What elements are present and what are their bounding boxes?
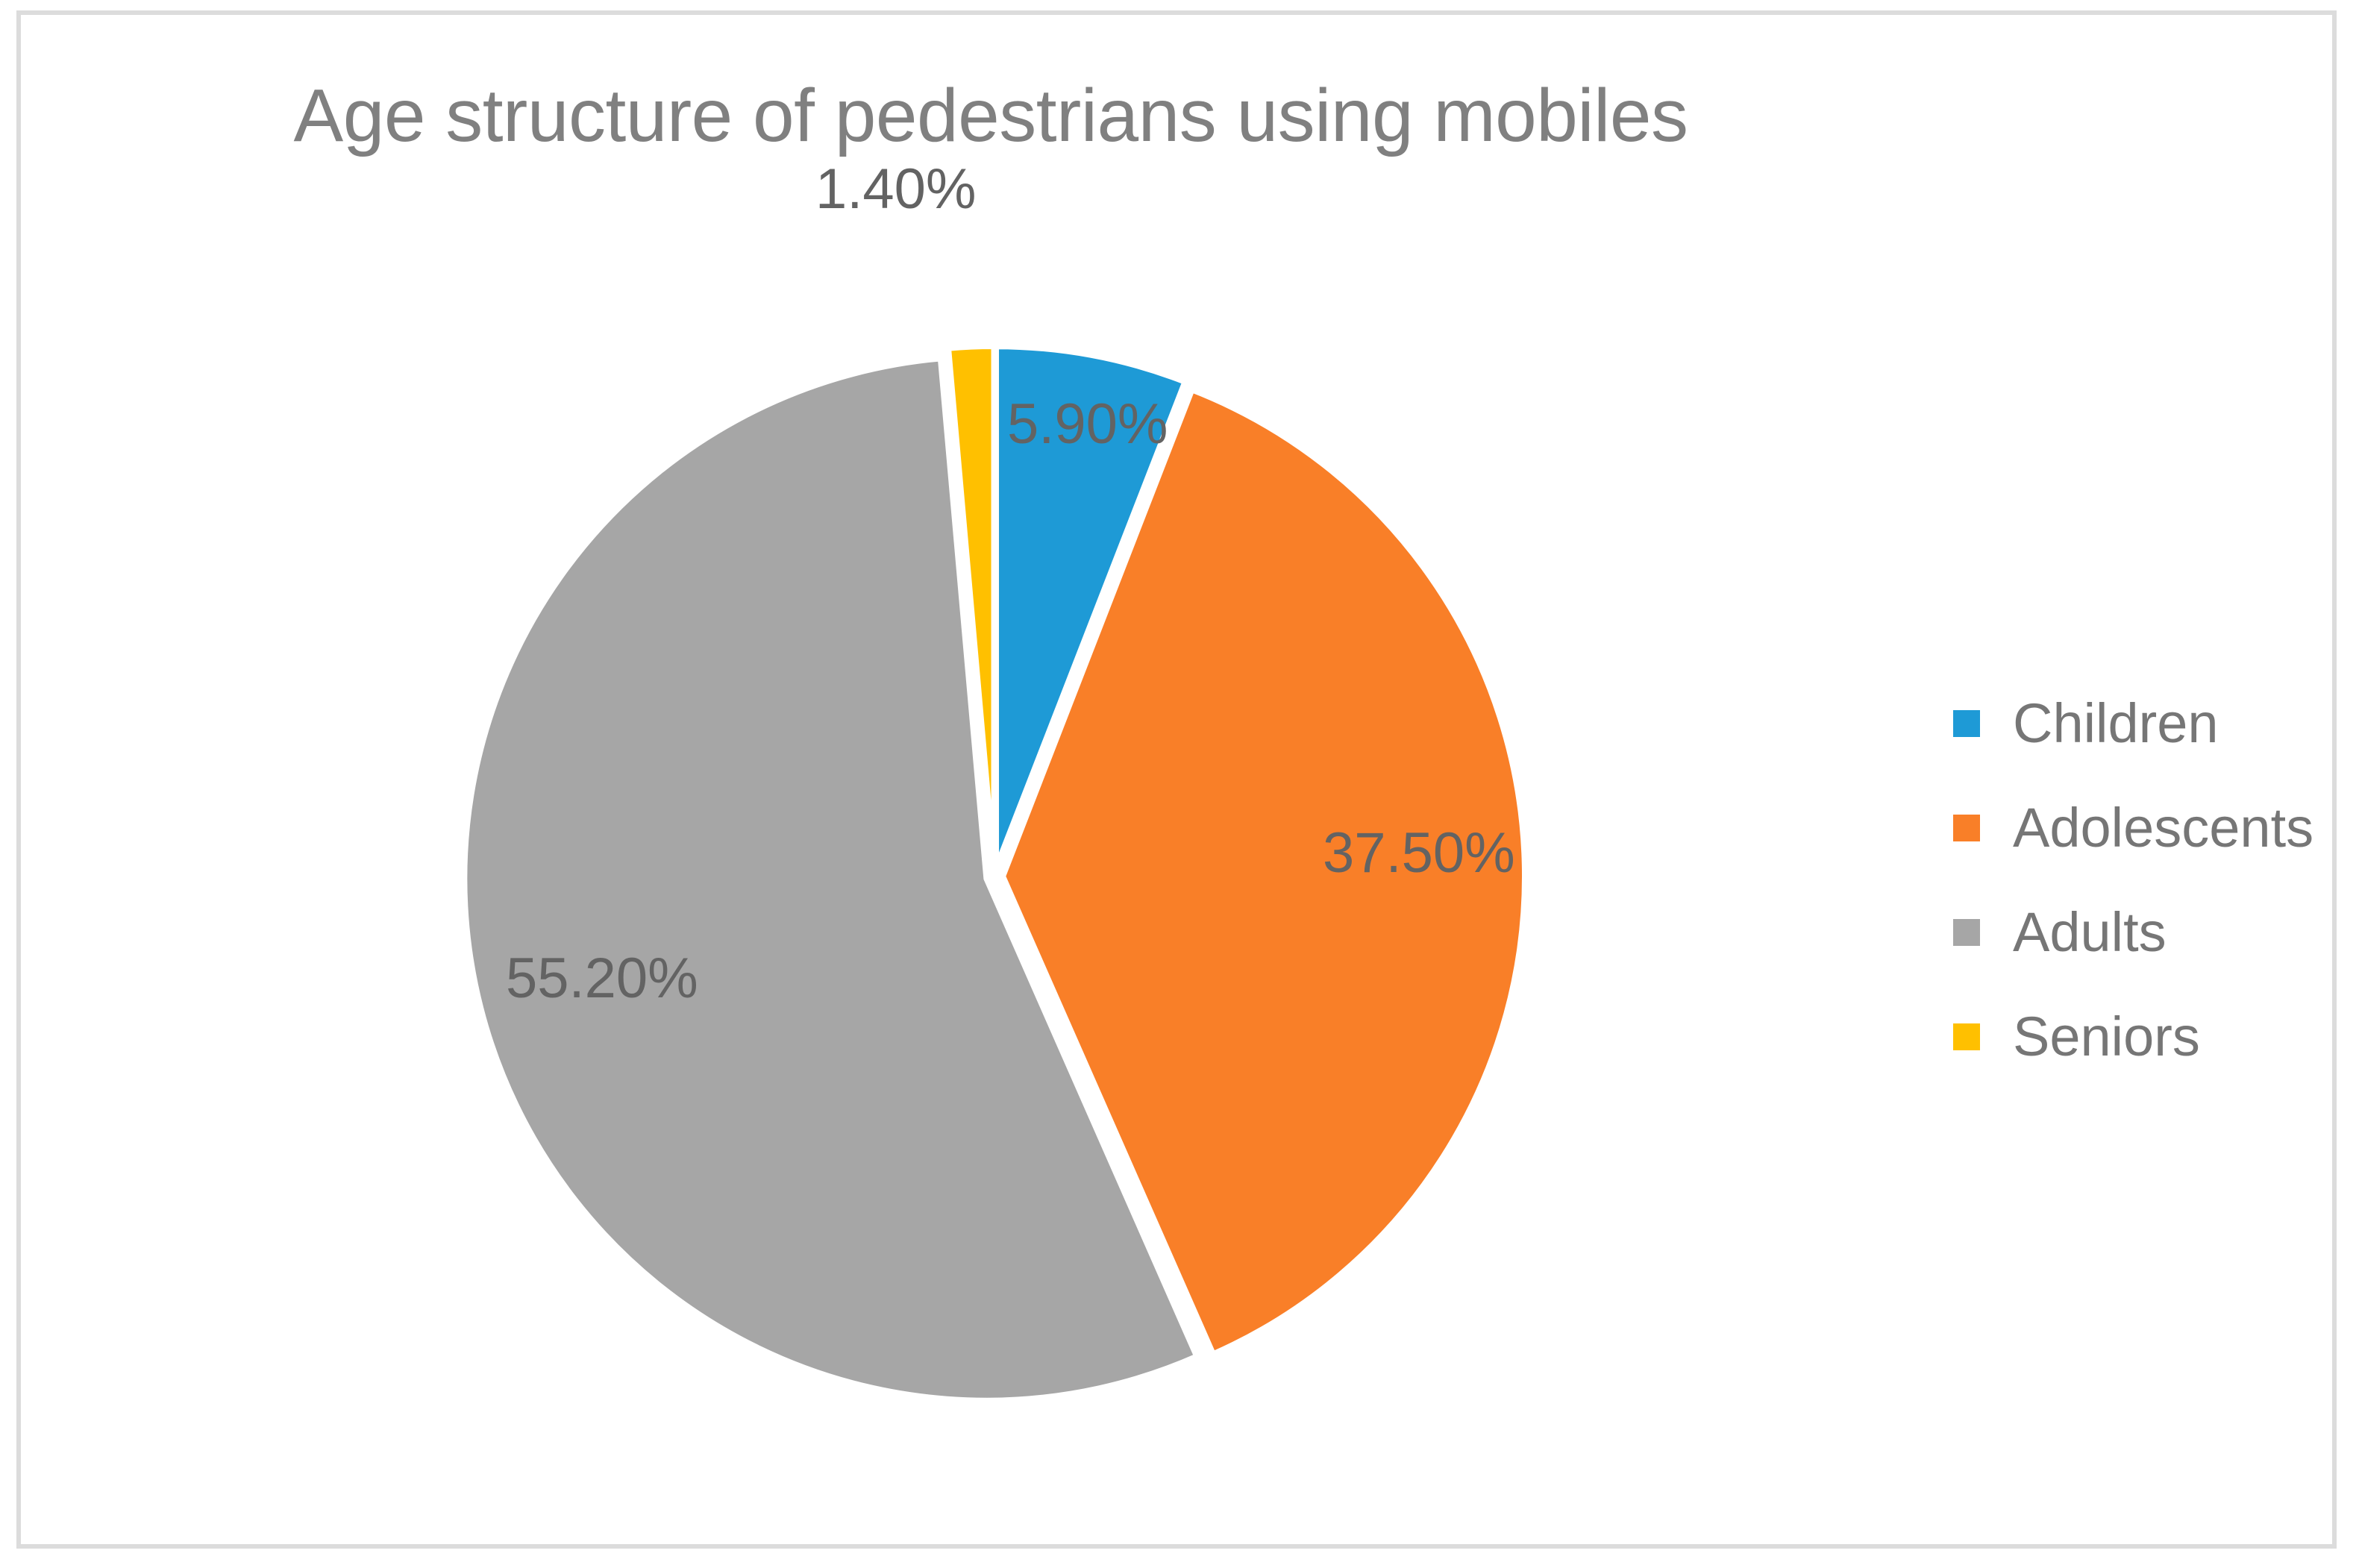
chart-frame: Age structure of pedestrians using mobil…: [16, 10, 2337, 1549]
legend-label-adults: Adults: [2013, 905, 2167, 960]
legend-label-seniors: Seniors: [2013, 1009, 2200, 1064]
chart-legend: Children Adolescents Adults Seniors: [1953, 671, 2311, 1089]
pie-svg: [21, 15, 1931, 1553]
legend-item-adults[interactable]: Adults: [1953, 880, 2311, 985]
legend-swatch-adolescents: [1953, 815, 1980, 841]
legend-item-children[interactable]: Children: [1953, 671, 2311, 776]
pie-chart: 1.40% 5.90% 37.50% 55.20%: [21, 15, 1931, 1553]
legend-swatch-adults: [1953, 919, 1980, 946]
pie-slices: [464, 346, 1525, 1401]
legend-swatch-seniors: [1953, 1023, 1980, 1050]
legend-swatch-children: [1953, 710, 1980, 737]
legend-item-adolescents[interactable]: Adolescents: [1953, 776, 2311, 880]
legend-label-children: Children: [2013, 696, 2219, 751]
legend-label-adolescents: Adolescents: [2013, 800, 2313, 856]
legend-item-seniors[interactable]: Seniors: [1953, 985, 2311, 1089]
